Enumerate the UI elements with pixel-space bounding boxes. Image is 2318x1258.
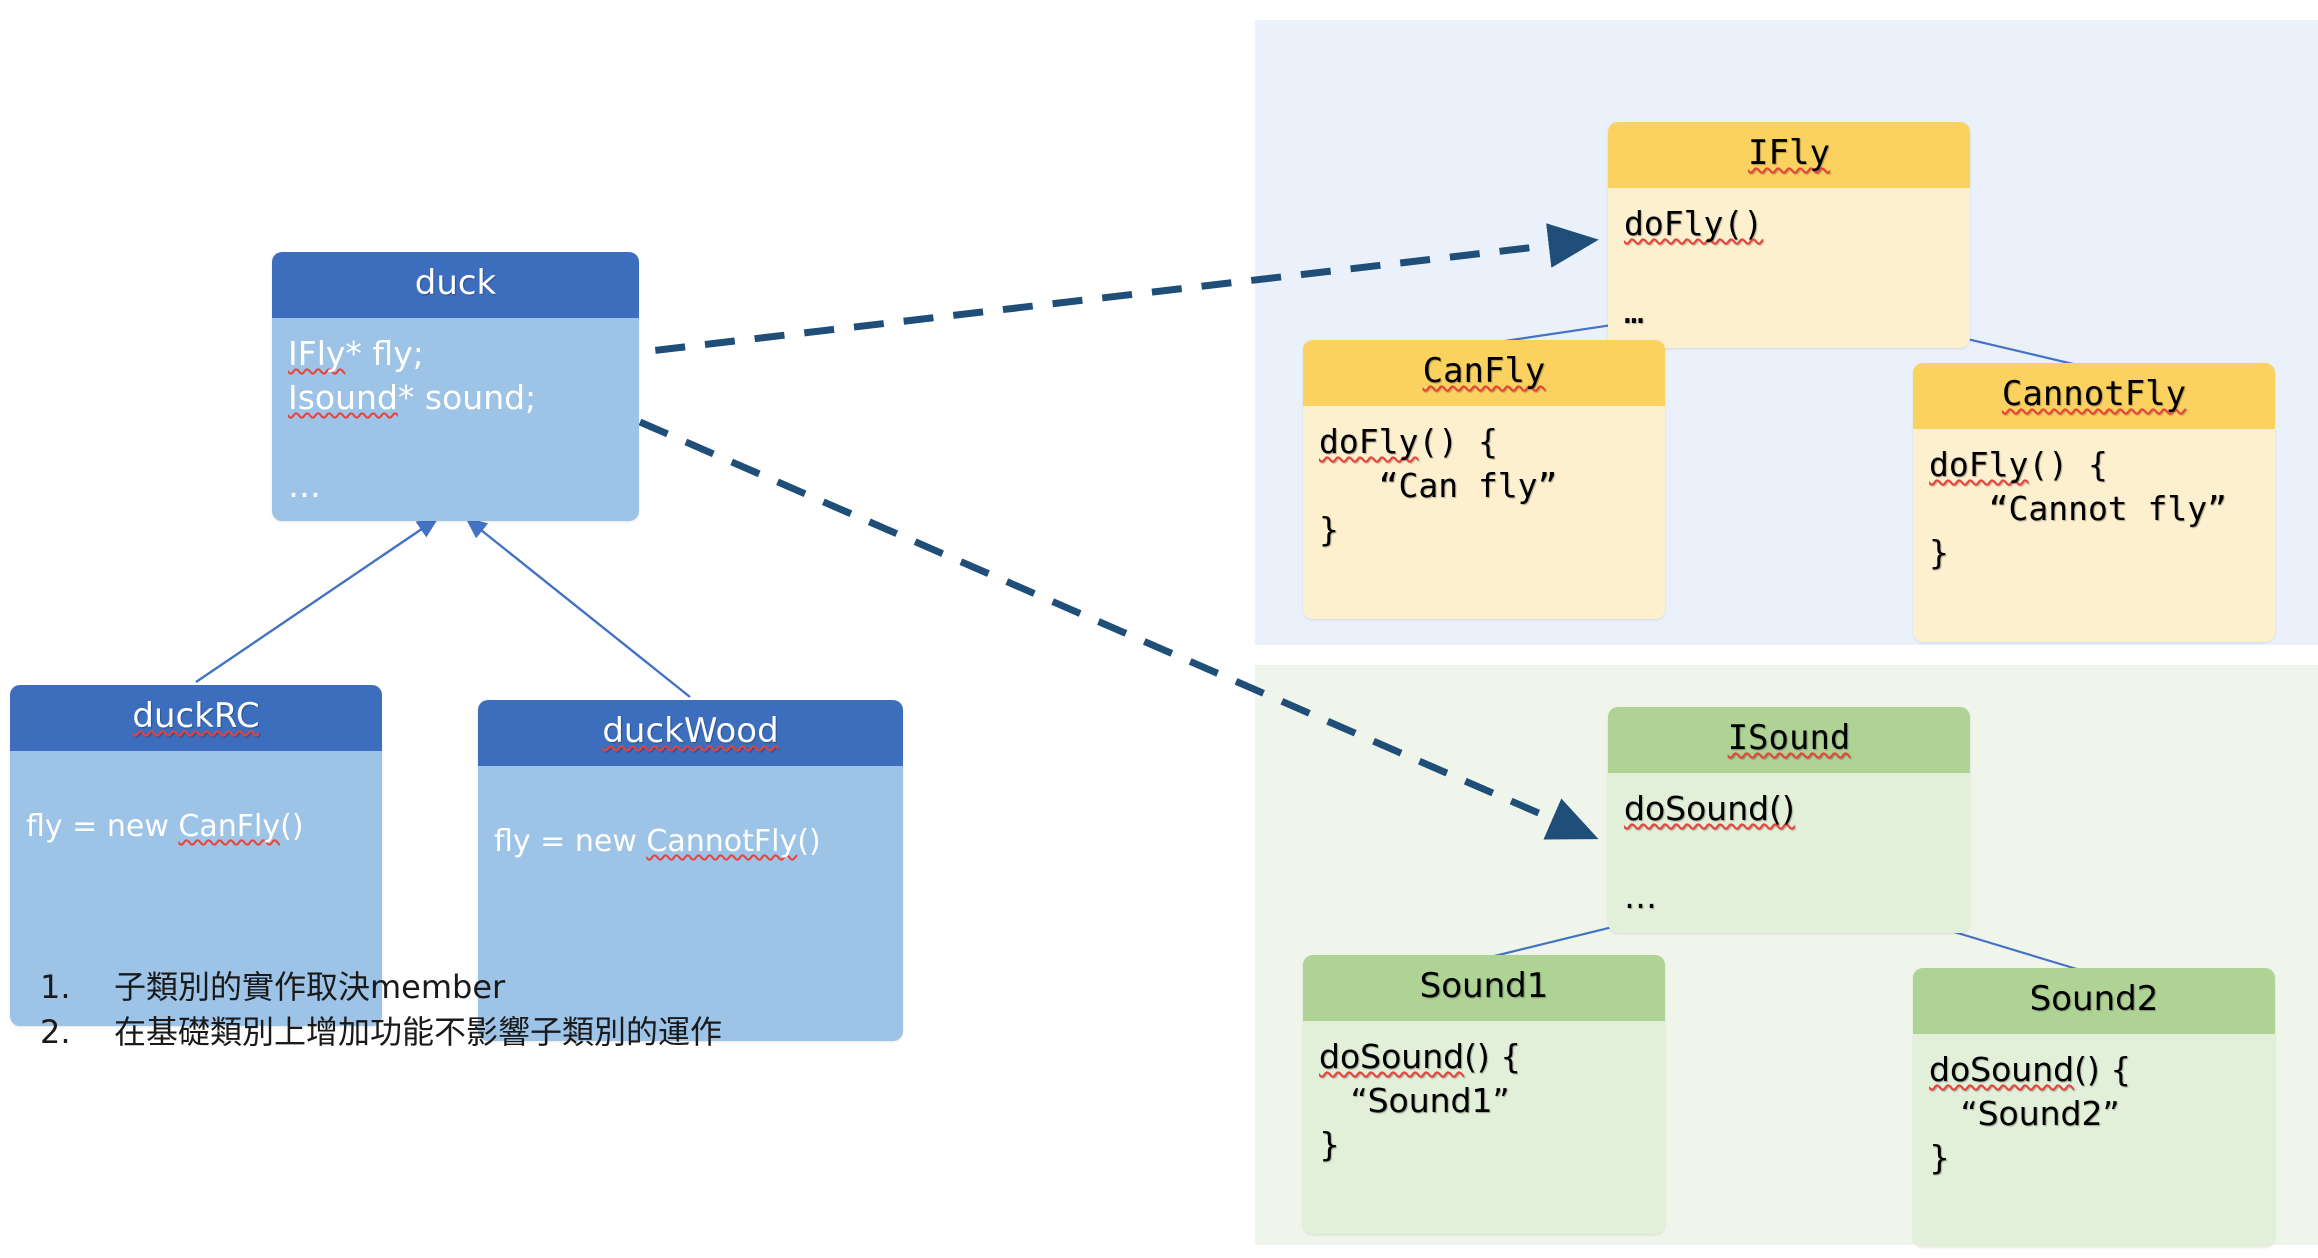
assignment-suffix-duckwood: () [797, 824, 820, 859]
class-title-canfly: CanFly [1303, 340, 1665, 406]
strategy-class-canfly: CanFly [178, 809, 280, 844]
method-open-sound1: () { [1464, 1037, 1521, 1076]
class-box-sound1[interactable]: Sound1 doSound() { “Sound1” } [1303, 955, 1665, 1234]
class-members-duck: IFly* fly; Isound* sound; … [272, 318, 639, 522]
method-dosound-isound: doSound() [1624, 789, 1795, 828]
class-members-ifly: doFly() … [1608, 188, 1970, 348]
note-item: 2. 在基礎類別上增加功能不影響子類別的運作 [40, 1010, 1040, 1055]
diagram-canvas: duck IFly* fly; Isound* sound; … duckRC … [0, 0, 2318, 1258]
method-return-canfly: “Can fly” [1319, 466, 1557, 505]
member-ellipsis-ifly: … [1624, 292, 1644, 331]
method-open-sound2: () { [2074, 1050, 2131, 1089]
assignment-suffix-duckrc: () [280, 809, 303, 844]
assignment-prefix-duckwood: fly = new [494, 824, 646, 859]
class-title-ifly: IFly [1608, 122, 1970, 188]
note-item: 1. 子類別的實作取決member [40, 965, 1040, 1010]
notes-list: 1. 子類別的實作取決member 2. 在基礎類別上增加功能不影響子類別的運作 [40, 965, 1040, 1056]
class-title-sound2: Sound2 [1913, 968, 2275, 1034]
assignment-prefix-duckrc: fly = new [26, 809, 178, 844]
class-title-duckrc: duckRC [10, 685, 382, 751]
note-text: 子類別的實作取決member [114, 965, 505, 1010]
connector-duckwood-inherits-duck [466, 518, 690, 697]
member-name-sound: * sound; [398, 378, 536, 417]
class-title-sound1: Sound1 [1303, 955, 1665, 1021]
class-members-sound2: doSound() { “Sound2” } [1913, 1034, 2275, 1247]
class-members-cannotfly: doFly() { “Cannot fly” } [1913, 429, 2275, 642]
class-box-duck[interactable]: duck IFly* fly; Isound* sound; … [272, 252, 639, 521]
method-dosound-sound2: doSound [1929, 1050, 2074, 1089]
member-ellipsis-isound: … [1624, 877, 1657, 916]
class-box-ifly[interactable]: IFly doFly() … [1608, 122, 1970, 348]
connector-duckrc-inherits-duck [196, 518, 438, 682]
class-title-isound: ISound [1608, 707, 1970, 773]
method-close-canfly: } [1319, 510, 1339, 549]
class-box-cannotfly[interactable]: CannotFly doFly() { “Cannot fly” } [1913, 363, 2275, 642]
class-box-canfly[interactable]: CanFly doFly() { “Can fly” } [1303, 340, 1665, 619]
method-dofly-cannotfly: doFly [1929, 445, 2028, 484]
method-open-cannotfly: () { [2028, 445, 2107, 484]
class-members-sound1: doSound() { “Sound1” } [1303, 1021, 1665, 1234]
class-title-duck: duck [272, 252, 639, 318]
member-type-isound: Isound [288, 378, 398, 417]
member-type-ifly: IFly [288, 334, 345, 373]
class-members-isound: doSound() … [1608, 773, 1970, 933]
member-name-fly: * fly; [345, 334, 423, 373]
strategy-class-cannotfly: CannotFly [646, 824, 797, 859]
method-dofly-canfly: doFly [1319, 422, 1418, 461]
method-dofly-ifly: doFly() [1624, 204, 1763, 243]
class-box-sound2[interactable]: Sound2 doSound() { “Sound2” } [1913, 968, 2275, 1247]
method-open-canfly: () { [1418, 422, 1497, 461]
method-return-sound2: “Sound2” [1929, 1094, 2120, 1133]
class-title-duckwood: duckWood [478, 700, 903, 766]
note-number: 1. [40, 965, 114, 1010]
class-box-isound[interactable]: ISound doSound() … [1608, 707, 1970, 933]
note-number: 2. [40, 1010, 114, 1055]
member-ellipsis-duck: … [288, 466, 321, 505]
method-close-sound2: } [1929, 1138, 1950, 1177]
method-return-sound1: “Sound1” [1319, 1081, 1510, 1120]
class-title-cannotfly: CannotFly [1913, 363, 2275, 429]
class-members-canfly: doFly() { “Can fly” } [1303, 406, 1665, 619]
method-return-cannotfly: “Cannot fly” [1929, 489, 2227, 528]
method-close-sound1: } [1319, 1125, 1340, 1164]
note-text: 在基礎類別上增加功能不影響子類別的運作 [114, 1010, 722, 1055]
method-close-cannotfly: } [1929, 533, 1949, 572]
method-dosound-sound1: doSound [1319, 1037, 1464, 1076]
